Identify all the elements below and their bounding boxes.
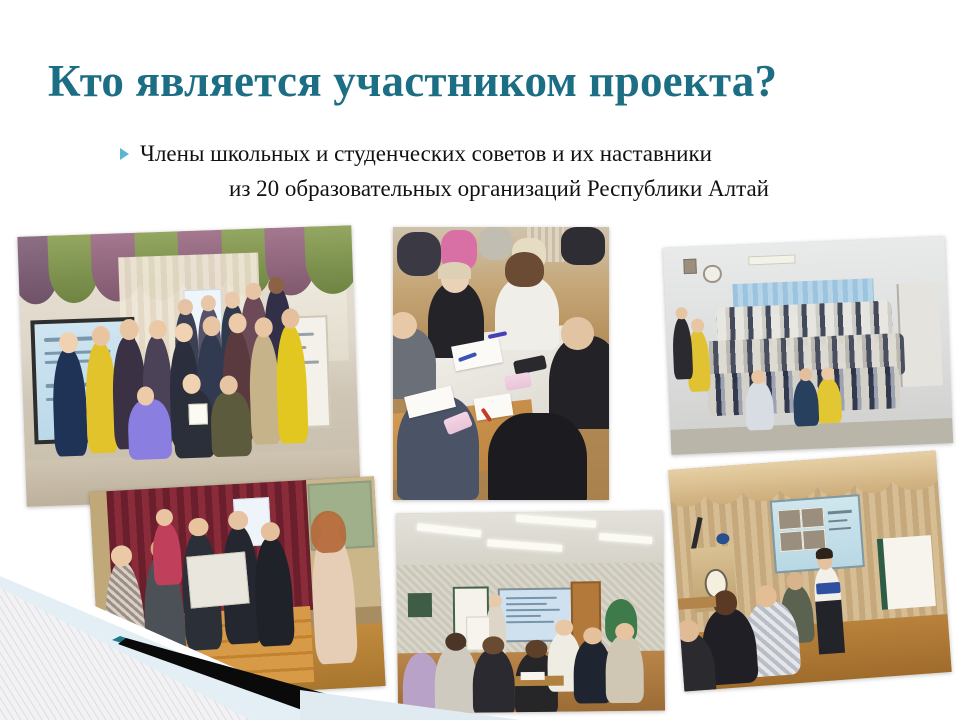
body-text-block: Члены школьных и студенческих советов и … (120, 140, 860, 202)
triangle-right-bullet-icon (120, 148, 129, 160)
photo-school-group-blue-curtain (663, 236, 953, 455)
photo-hall-presentation (668, 450, 952, 691)
bullet-line-2: из 20 образовательных организаций Респуб… (120, 176, 860, 202)
slide-canvas: Кто является участником проекта? Члены ш… (0, 0, 960, 720)
bullet-item: Члены школьных и студенческих советов и … (120, 140, 860, 169)
photo-group-stage-hall (17, 225, 360, 506)
page-title: Кто является участником проекта? (48, 58, 928, 105)
bullet-line-1: Члены школьных и студенческих советов и … (140, 140, 712, 169)
photo-students-poster-stage (89, 476, 385, 702)
photo-team-worktable (393, 227, 609, 500)
photo-classroom-lecture (396, 511, 665, 714)
